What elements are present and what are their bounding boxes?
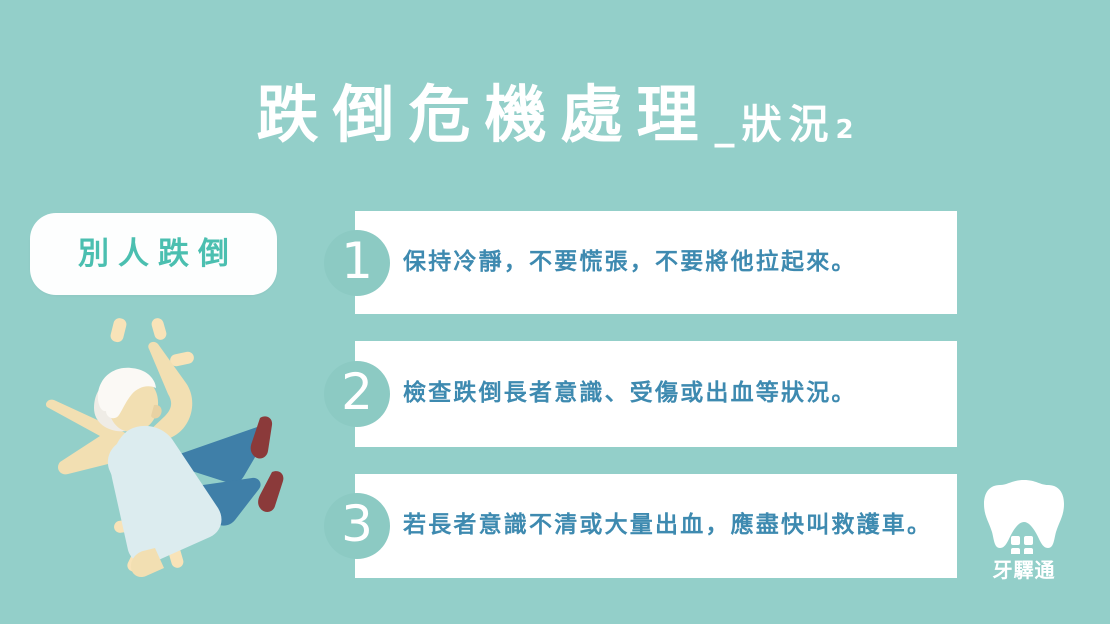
step-number-badge-2: 2 [324, 361, 390, 427]
step-card-2: 2 檢查跌倒長者意識、受傷或出血等狀況。 [355, 341, 957, 447]
page-title-sub: _狀況2 [714, 105, 853, 145]
step-number-1: 1 [341, 236, 373, 286]
step-number-badge-3: 3 [324, 493, 390, 559]
step-text-1: 保持冷靜，不要慌張，不要將他拉起來。 [403, 248, 857, 278]
step-text-3: 若長者意識不清或大量出血，應盡快叫救護車。 [403, 511, 932, 541]
category-badge-label: 別人跌倒 [69, 239, 238, 270]
step-number-3: 3 [341, 499, 373, 549]
step-number-badge-1: 1 [324, 230, 390, 296]
tooth-dots-icon [1011, 536, 1033, 554]
step-card-1: 1 保持冷靜，不要慌張，不要將他拉起來。 [355, 211, 957, 314]
category-badge: 別人跌倒 [30, 213, 277, 295]
tooth-icon [978, 478, 1070, 554]
page-title: 跌倒危機處理 _狀況2 [0, 84, 1110, 146]
left-shoe [251, 416, 272, 458]
elderly-person-falling-illustration [22, 308, 322, 593]
brand-logo: 牙驛通 [978, 478, 1070, 588]
page-title-sub-text: _狀況 [714, 102, 835, 148]
infographic-canvas: 跌倒危機處理 _狀況2 別人跌倒 1 保持冷靜，不要慌張，不要將他拉起來。 2 … [0, 0, 1110, 624]
right-shoe [258, 471, 283, 512]
page-title-sub-number: 2 [835, 115, 853, 145]
brand-logo-text: 牙驛通 [978, 560, 1070, 580]
page-title-main: 跌倒危機處理 [256, 84, 712, 146]
step-text-2: 檢查跌倒長者意識、受傷或出血等狀況。 [403, 379, 857, 409]
step-number-2: 2 [341, 367, 373, 417]
step-card-3: 3 若長者意識不清或大量出血，應盡快叫救護車。 [355, 474, 957, 578]
